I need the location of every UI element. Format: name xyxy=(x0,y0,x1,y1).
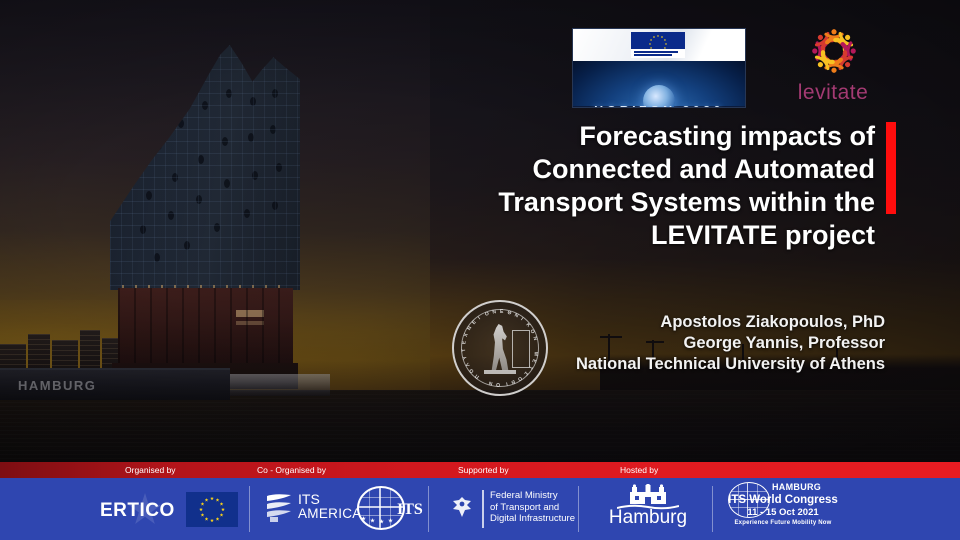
its-stars-icon xyxy=(361,516,401,524)
title-line-1: Forecasting impacts of xyxy=(405,120,875,153)
horizon-wordmark: HORIZON 2020 xyxy=(573,105,745,108)
slide-title: Forecasting impacts of Connected and Aut… xyxy=(405,120,875,252)
its-wordmark: ITS xyxy=(397,502,423,518)
its-globe-logo: ITS xyxy=(355,486,435,528)
ministry-line-2: of Transport and xyxy=(490,502,575,514)
hamburg-gate-icon xyxy=(626,484,670,504)
its-america-flag-icon xyxy=(266,493,292,523)
title-line-2: Connected and Automated xyxy=(405,153,875,186)
ministry-divider xyxy=(482,490,484,528)
horizon-logo-top xyxy=(573,29,745,61)
ertico-wordmark: ERTICO xyxy=(100,501,175,520)
congress-dates: 11 - 15 Oct 2021 xyxy=(728,508,838,518)
levitate-figures-icon xyxy=(795,20,873,82)
levitate-logo: levitate xyxy=(783,20,883,108)
german-eagle-icon xyxy=(450,494,474,520)
ministry-line-1: Federal Ministry xyxy=(490,490,575,502)
federal-ministry-logo: Federal Ministry of Transport and Digita… xyxy=(450,488,600,530)
its-world-congress-logo: HAMBURG ITS World Congress 11 - 15 Oct 2… xyxy=(728,482,838,532)
author-name-2: George Yannis, Professor xyxy=(520,333,885,354)
affiliation: National Technical University of Athens xyxy=(520,354,885,375)
title-line-3: Transport Systems within the xyxy=(405,186,875,219)
presentation-slide: HAMBURG HORIZON 2020 levitate Forecastin… xyxy=(0,0,960,540)
levitate-wordmark: levitate xyxy=(783,82,883,103)
footer-red-strip: Organised by Co - Organised by Supported… xyxy=(0,462,960,478)
footer-divider xyxy=(712,486,713,532)
title-line-4: LEVITATE project xyxy=(405,219,875,252)
footer-label-co-organised-by: Co - Organised by xyxy=(257,465,326,475)
congress-tagline: Experience Future Mobility Now xyxy=(728,520,838,526)
its-america-line-1: ITS xyxy=(298,492,320,506)
title-accent-bar xyxy=(886,122,896,214)
seal-pedestal xyxy=(484,370,516,374)
eu-flag-icon xyxy=(186,492,238,527)
footer-label-hosted-by: Hosted by xyxy=(620,465,658,475)
footer-divider xyxy=(249,486,250,532)
its-america-line-2: AMERICA xyxy=(298,507,362,521)
hamburg-wordmark: Hamburg xyxy=(600,508,696,527)
footer-label-organised-by: Organised by xyxy=(125,465,176,475)
ministry-line-3: Digital Infrastructure xyxy=(490,513,575,525)
hamburg-city-logo: Hamburg xyxy=(600,484,696,530)
horizon-logo-bottom: HORIZON 2020 xyxy=(573,61,745,106)
congress-city: HAMBURG xyxy=(772,483,821,492)
author-block: Apostolos Ziakopoulos, PhD George Yannis… xyxy=(520,312,885,375)
ministry-name: Federal Ministry of Transport and Digita… xyxy=(490,490,575,525)
congress-name: ITS World Congress xyxy=(728,495,838,507)
horizon-2020-logo: HORIZON 2020 xyxy=(572,28,746,108)
european-commission-label xyxy=(631,49,685,58)
author-name-1: Apostolos Ziakopoulos, PhD xyxy=(520,312,885,333)
footer-label-supported-by: Supported by xyxy=(458,465,509,475)
